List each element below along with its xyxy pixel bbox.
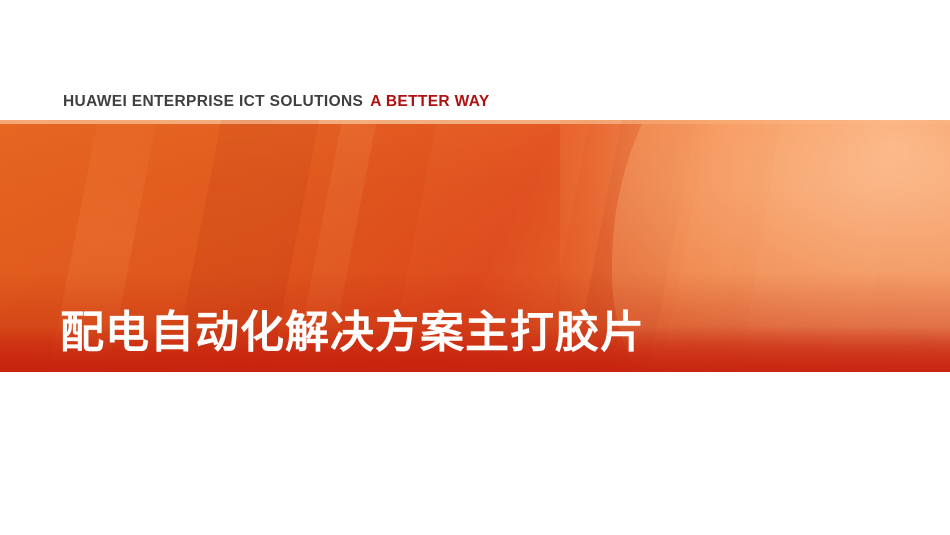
title-banner: 配电自动化解决方案主打胶片 [0, 120, 950, 372]
header-tagline: HUAWEI ENTERPRISE ICT SOLUTIONSA BETTER … [63, 93, 490, 111]
slide-header: HUAWEI ENTERPRISE ICT SOLUTIONSA BETTER … [0, 0, 950, 120]
slide-title: 配电自动化解决方案主打胶片 [60, 296, 645, 360]
header-accent-text: A BETTER WAY [370, 93, 489, 110]
header-main-text: HUAWEI ENTERPRISE ICT SOLUTIONS [63, 93, 363, 110]
slide-footer: enterprise.huawei.com HUAWEI TECHNOLOGIE… [0, 372, 950, 535]
slide-canvas: HUAWEI ENTERPRISE ICT SOLUTIONSA BETTER … [0, 0, 950, 535]
